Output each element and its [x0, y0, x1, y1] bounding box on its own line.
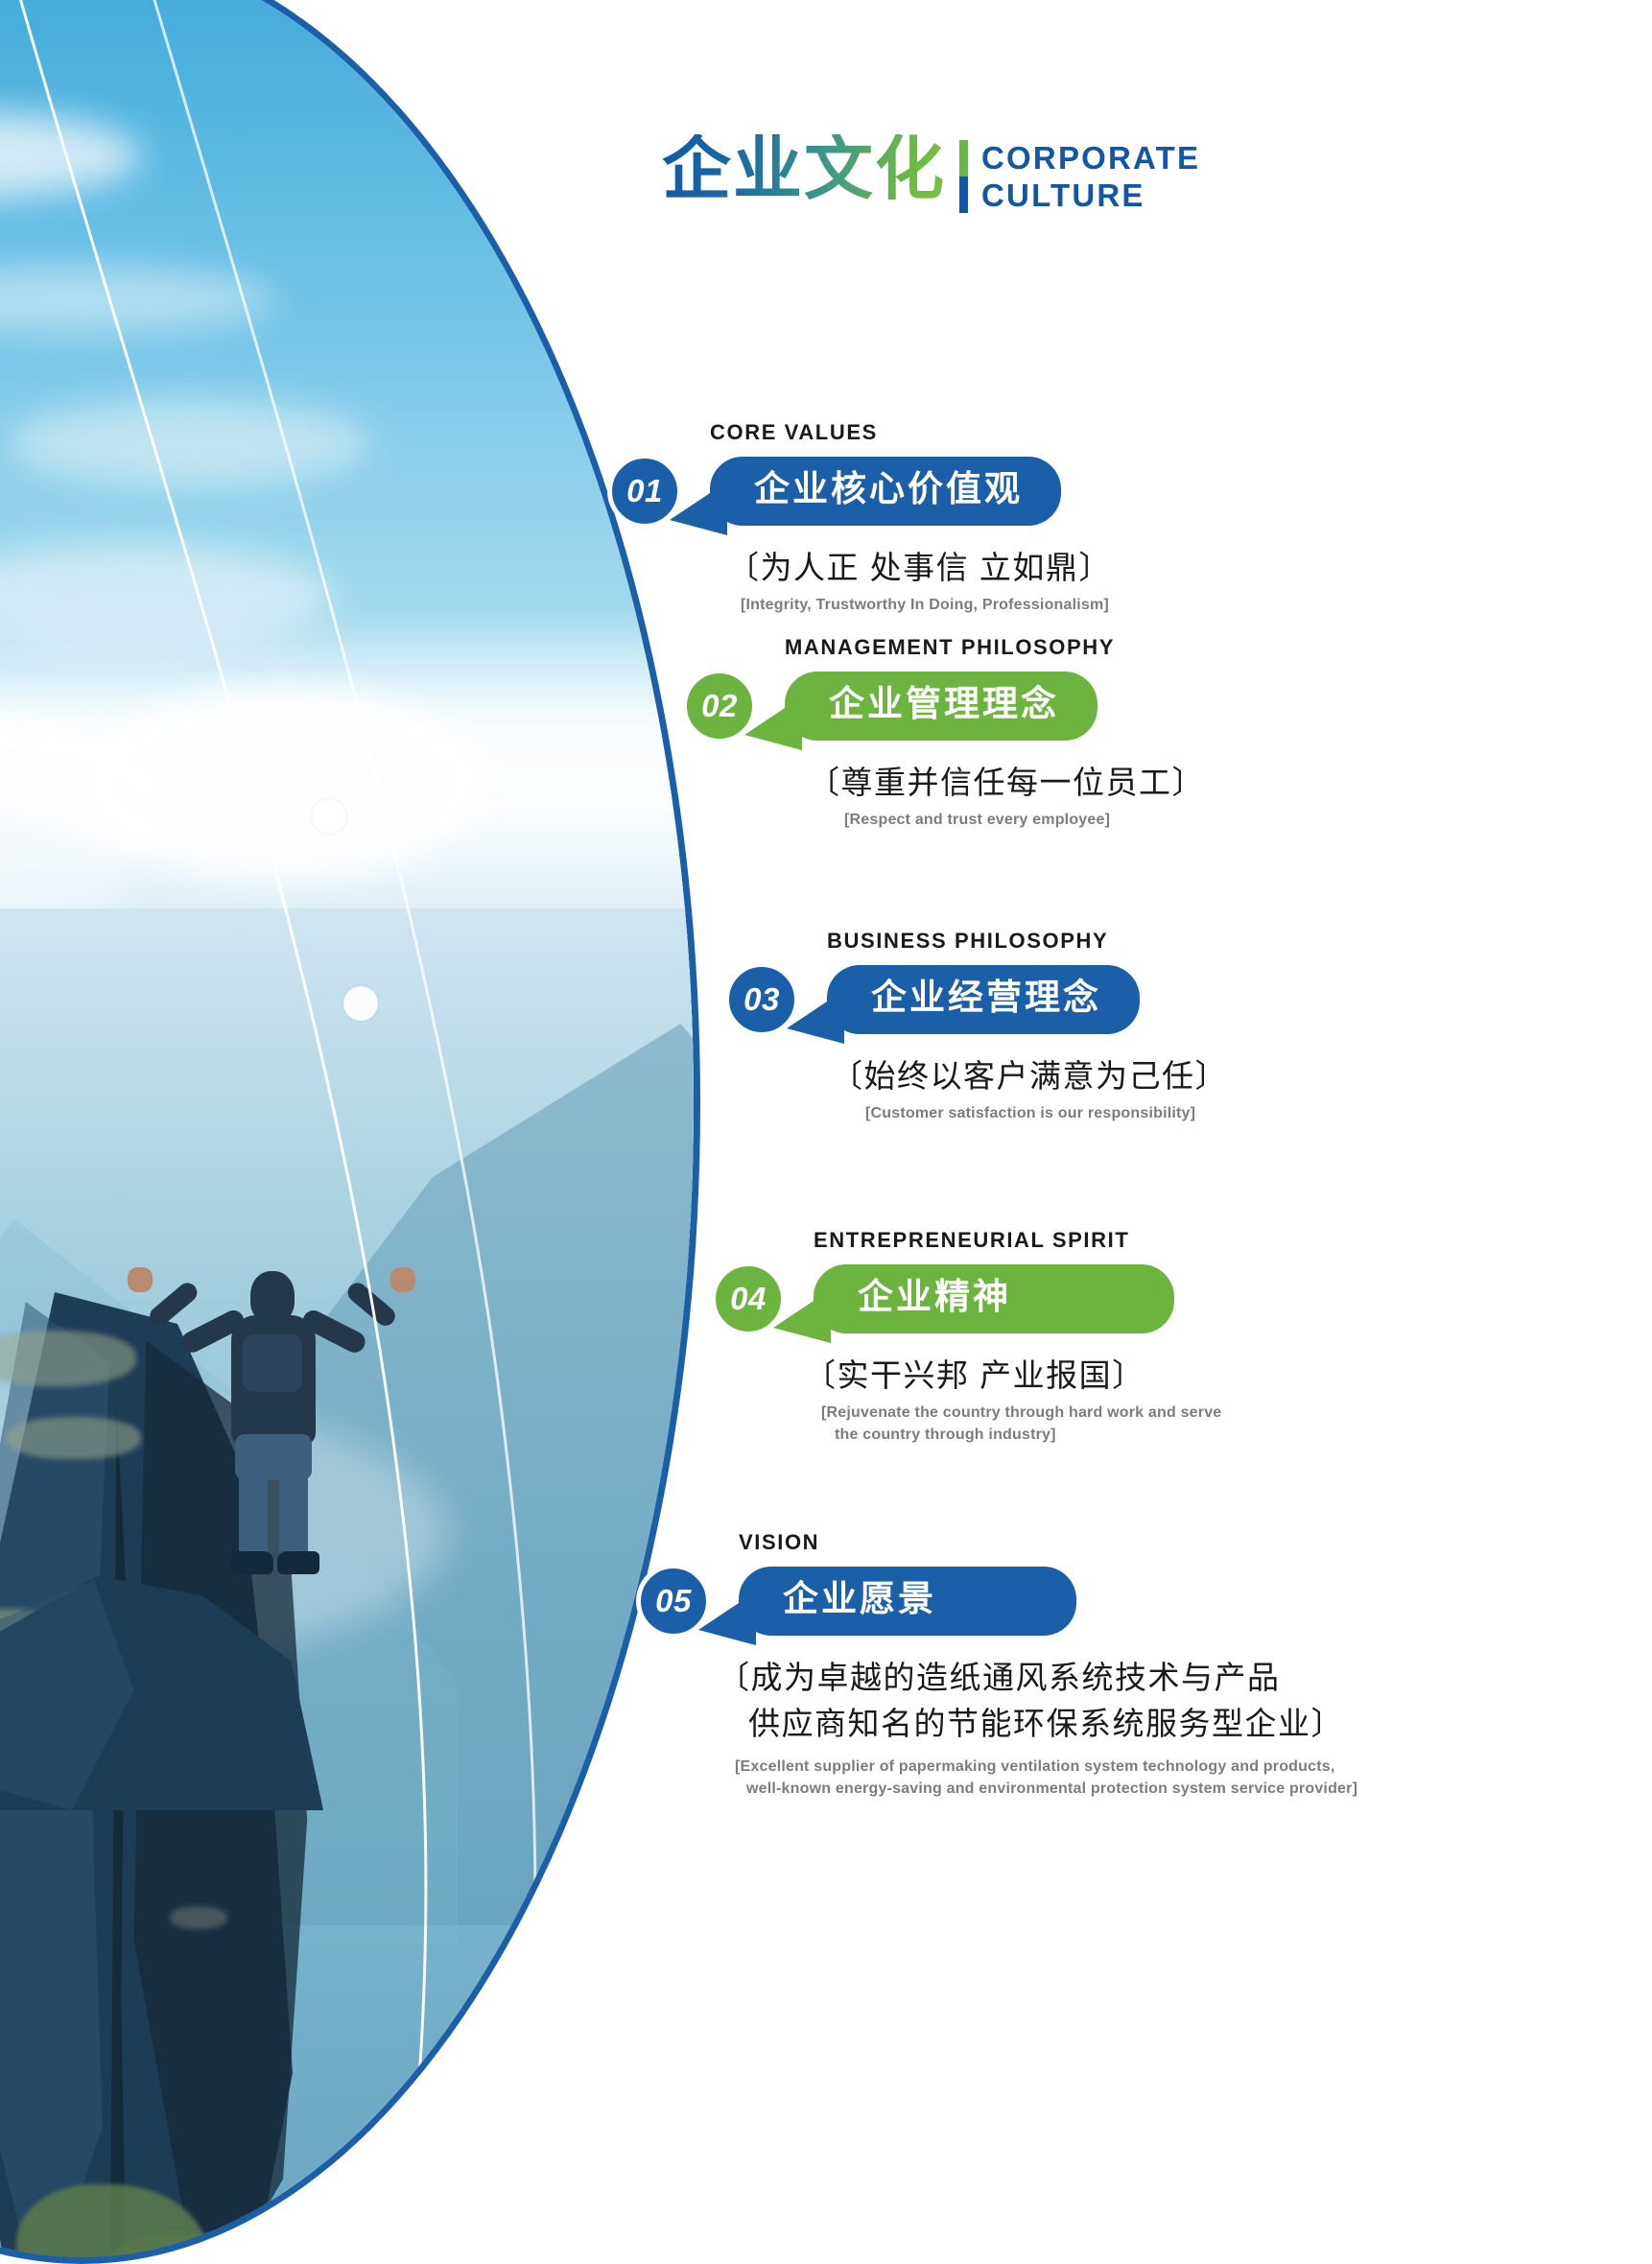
divider-blue-segment — [959, 177, 968, 213]
item-04-motto-cn: 〔实干兴邦 产业报国〕 — [804, 1355, 1221, 1398]
item-02-title-bubble[interactable]: 企业管理理念 — [785, 672, 1097, 741]
title-chinese: 企业文化 — [662, 134, 950, 207]
item-01-motto-cn: 〔为人正 处事信 立如鼎〕 — [727, 547, 1112, 590]
title-english: CORPORATE CULTURE — [981, 134, 1200, 214]
culture-item-05: VISION 05 企业愿景 〔成为卓越的造纸通风系统技术与产品 供应商知名的节… — [739, 1530, 1357, 1800]
item-04-eyebrow: ENTREPRENEURIAL SPIRIT — [814, 1228, 1221, 1253]
item-04-title-bubble[interactable]: 企业精神 — [814, 1264, 1174, 1333]
item-01-eyebrow: CORE VALUES — [710, 420, 1112, 445]
culture-item-03: BUSINESS PHILOSOPHY 03 企业经营理念 〔始终以客户满意为己… — [827, 929, 1228, 1124]
item-04-banner-row: 04 企业精神 — [814, 1264, 1221, 1333]
hero-photo-ellipse — [0, 0, 700, 2264]
item-03-banner-row: 03 企业经营理念 — [827, 965, 1228, 1034]
item-04-motto-en-line1: [Rejuvenate the country through hard wor… — [821, 1402, 1221, 1424]
item-02-motto-en: [Respect and trust every employee] — [844, 809, 1205, 831]
item-04-motto-en: [Rejuvenate the country through hard wor… — [821, 1402, 1221, 1446]
page-title: 企业文化 CORPORATE CULTURE — [662, 134, 1200, 214]
item-05-banner-row: 05 企业愿景 — [739, 1567, 1357, 1636]
item-01-number-badge[interactable]: 01 — [607, 454, 682, 529]
item-01-title-bubble[interactable]: 企业核心价值观 — [710, 457, 1061, 526]
item-05-motto-en-line1: [Excellent supplier of papermaking venti… — [735, 1756, 1357, 1778]
item-03-number-badge[interactable]: 03 — [724, 962, 799, 1037]
hero-photo-image — [0, 0, 694, 2257]
item-01-banner-row: 01 企业核心价值观 — [710, 457, 1112, 526]
item-04-number-badge[interactable]: 04 — [711, 1262, 786, 1336]
item-02-motto-cn: 〔尊重并信任每一位员工〕 — [808, 762, 1205, 805]
item-04-title: 企业精神 — [858, 1278, 1011, 1317]
item-02-banner-row: 02 企业管理理念 — [785, 672, 1205, 741]
item-03-motto-cn: 〔始终以客户满意为己任〕 — [831, 1055, 1228, 1098]
title-english-line1: CORPORATE — [981, 140, 1200, 177]
item-03-motto-en: [Customer satisfaction is our responsibi… — [865, 1102, 1228, 1124]
item-05-motto-en: [Excellent supplier of papermaking venti… — [735, 1756, 1357, 1800]
item-02-eyebrow: MANAGEMENT PHILOSOPHY — [785, 635, 1205, 660]
divider-green-segment — [959, 140, 968, 177]
item-05-title-bubble[interactable]: 企业愿景 — [739, 1567, 1076, 1636]
culture-item-04: ENTREPRENEURIAL SPIRIT 04 企业精神 〔实干兴邦 产业报… — [814, 1228, 1221, 1447]
item-01-title: 企业核心价值观 — [754, 470, 1023, 509]
item-05-motto-cn-line1: 〔成为卓越的造纸通风系统技术与产品 — [718, 1657, 1357, 1700]
curve-dot — [343, 986, 378, 1021]
title-divider-bar — [959, 140, 968, 213]
item-02-title: 企业管理理念 — [829, 685, 1059, 724]
item-05-eyebrow: VISION — [739, 1530, 1357, 1555]
culture-item-02: MANAGEMENT PHILOSOPHY 02 企业管理理念 〔尊重并信任每一… — [785, 635, 1205, 831]
decorative-curve-line — [0, 0, 694, 2246]
culture-item-01: CORE VALUES 01 企业核心价值观 〔为人正 处事信 立如鼎〕 [In… — [710, 420, 1112, 616]
item-03-title-bubble[interactable]: 企业经营理念 — [827, 965, 1140, 1034]
curve-dot — [312, 799, 346, 834]
item-05-motto-cn-line2: 供应商知名的节能环保系统服务型企业〕 — [748, 1703, 1357, 1746]
item-02-number-badge[interactable]: 02 — [682, 669, 757, 743]
item-01-motto-en: [Integrity, Trustworthy In Doing, Profes… — [741, 594, 1112, 616]
title-english-line2: CULTURE — [981, 177, 1200, 215]
item-05-title: 企业愿景 — [783, 1580, 936, 1619]
item-04-motto-en-line2: the country through industry] — [835, 1424, 1221, 1446]
item-05-number-badge[interactable]: 05 — [636, 1564, 711, 1639]
item-05-motto-en-line2: well-known energy-saving and environment… — [746, 1778, 1357, 1800]
item-03-title: 企业经营理念 — [871, 979, 1101, 1018]
item-03-eyebrow: BUSINESS PHILOSOPHY — [827, 929, 1228, 954]
